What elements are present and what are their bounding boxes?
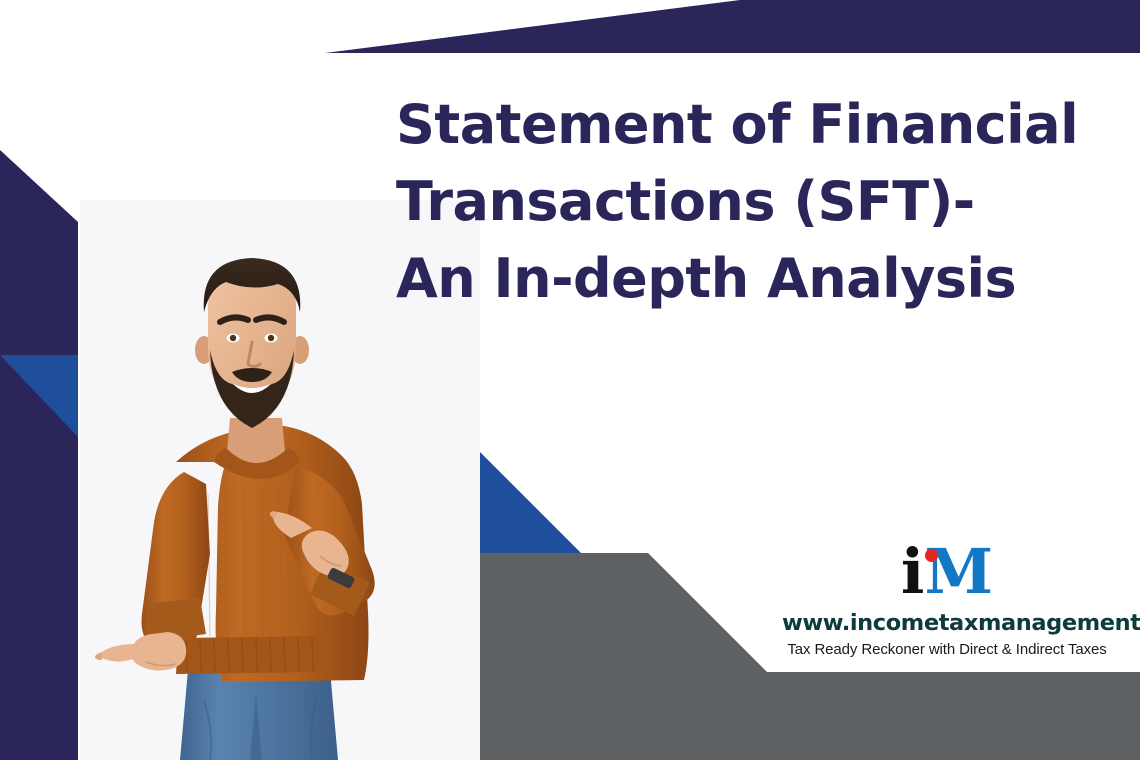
title-line-1: Statement of Financial (396, 86, 1116, 163)
logo-letter-m: M (924, 535, 993, 608)
top-navy-wedge (325, 0, 1140, 53)
logo-letter-i: i (901, 535, 925, 608)
logo-red-dot-icon (925, 549, 938, 562)
poster-canvas: Statement of Financial Transactions (SFT… (0, 0, 1140, 760)
logo-mark-icon: iM (782, 536, 1112, 608)
page-title: Statement of Financial Transactions (SFT… (396, 86, 1116, 317)
left-navy-bar (0, 150, 78, 760)
logo-tagline: Tax Ready Reckoner with Direct & Indirec… (782, 641, 1112, 658)
logo-website-url[interactable]: www.incometaxmanagement.in (782, 610, 1112, 636)
sweater-hem (176, 636, 326, 674)
title-line-3: An In-depth Analysis (396, 240, 1116, 317)
brand-logo[interactable]: iM www.incometaxmanagement.in Tax Ready … (782, 536, 1112, 658)
title-line-2: Transactions (SFT)- (396, 163, 1116, 240)
